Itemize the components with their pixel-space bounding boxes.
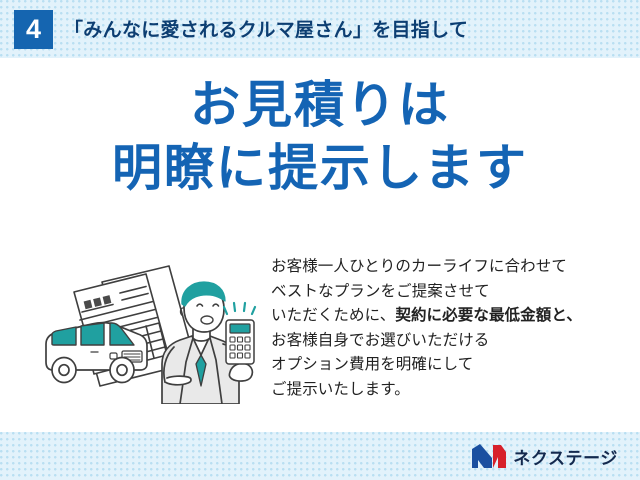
body-line-4: お客様自身でお選びいただける <box>271 329 633 354</box>
headline-line-2: 明瞭に提示します <box>0 143 640 194</box>
body-line-1: お客様一人ひとりのカーライフに合わせて <box>271 255 633 280</box>
headline: お見積りは 明瞭に提示します <box>0 80 640 194</box>
body-line-6: ご提示いたします。 <box>271 378 633 403</box>
nextage-n-logo-icon <box>472 444 506 469</box>
slide-root: 4 「みんなに愛されるクルマ屋さん」を目指して お見積りは 明瞭に提示します <box>0 0 640 480</box>
body-paragraph: お客様一人ひとりのカーライフに合わせて ベストなプランをご提案させて いただくた… <box>271 255 633 402</box>
body-line-5: オプション費用を明確にして <box>271 353 633 378</box>
body-line-2: ベストなプランをご提案させて <box>271 280 633 305</box>
footer-brand-logo: ネクステージ <box>472 444 618 469</box>
footer-brand-name: ネクステージ <box>513 444 618 469</box>
body-line-3: いただくために、契約に必要な最低金額と、 <box>271 304 633 329</box>
salesman-quotation-van-illustration <box>34 252 270 404</box>
body-line-3-plain: いただくために、 <box>271 307 395 324</box>
headline-line-1: お見積りは <box>0 80 640 131</box>
body-line-3-emphasis: 契約に必要な最低金額と、 <box>395 307 582 324</box>
header-step-number-badge: 4 <box>14 10 53 49</box>
header-title: 「みんなに愛されるクルマ屋さん」を目指して <box>64 15 468 42</box>
